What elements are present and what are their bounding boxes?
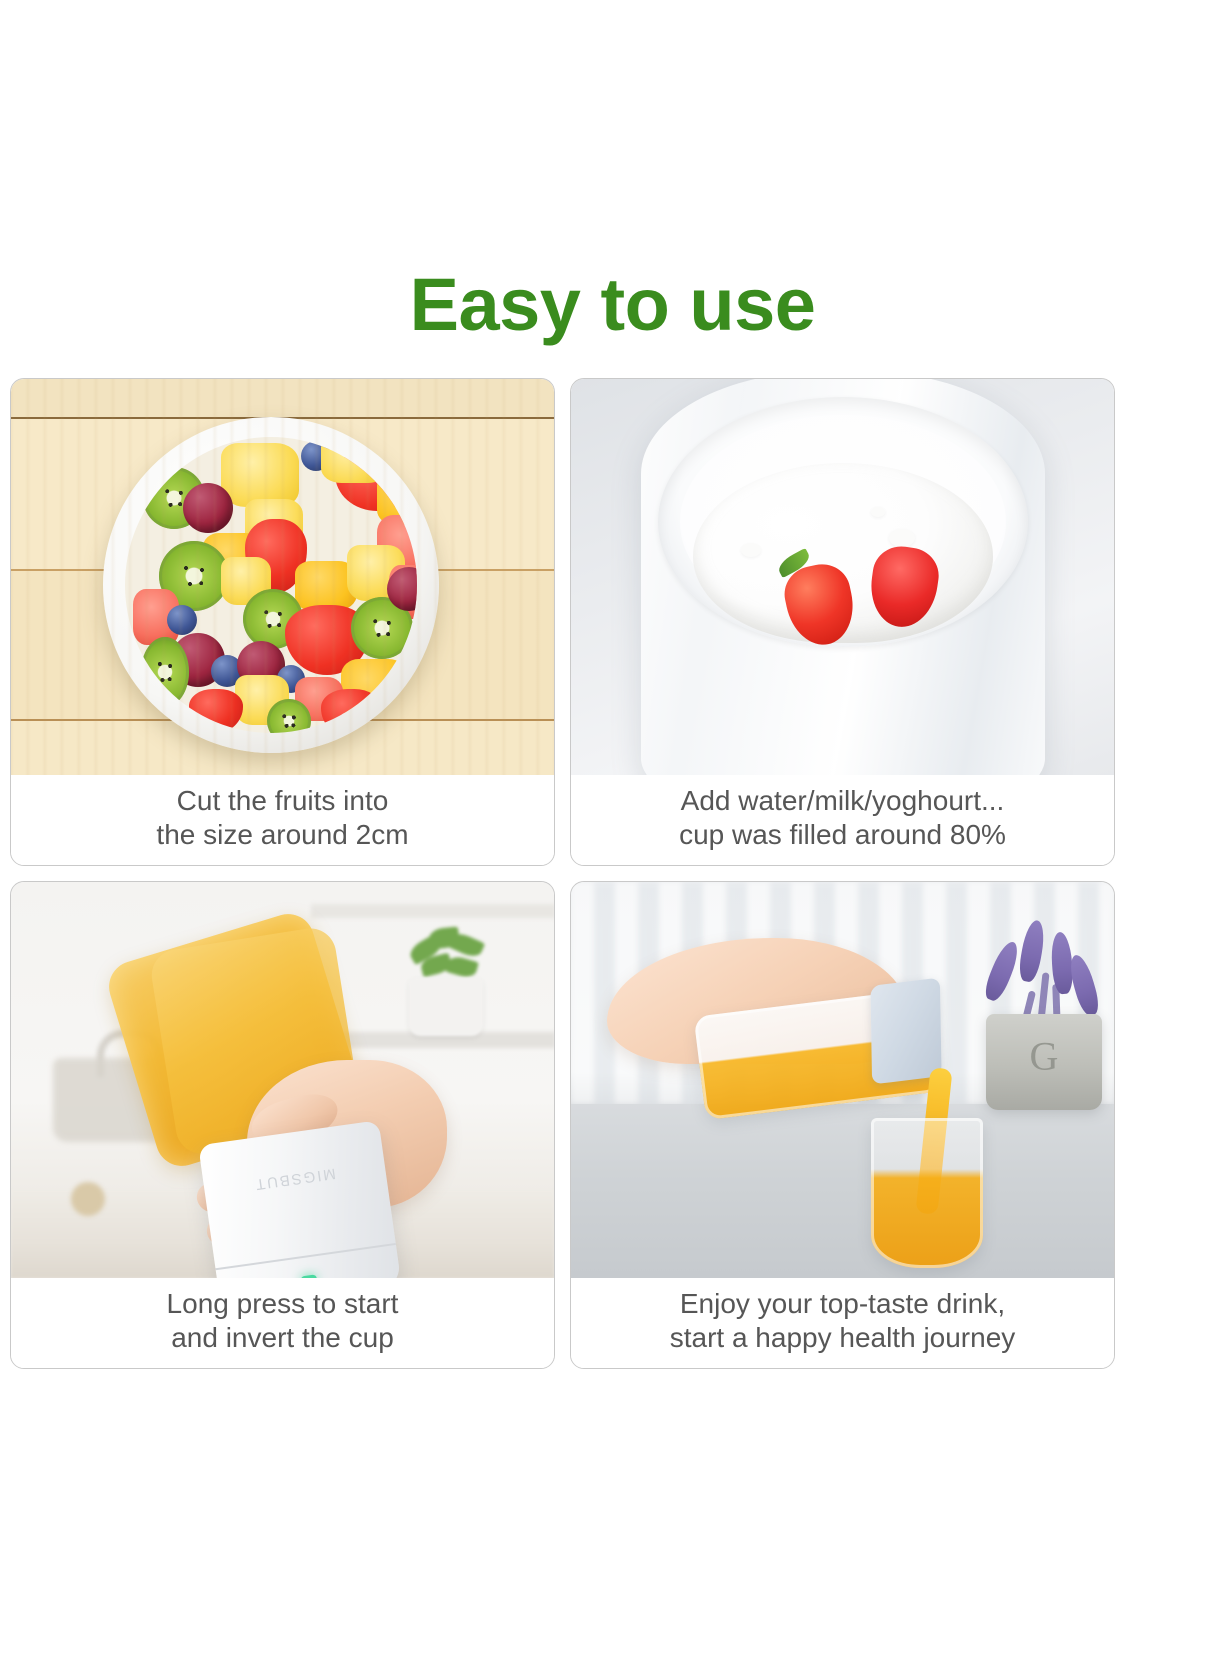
- wooden-ball: [71, 1182, 105, 1216]
- step-card-4: G Enjoy your top-taste drink, start a ha…: [570, 881, 1115, 1369]
- step-1-caption: Cut the fruits into the size around 2cm: [11, 775, 554, 865]
- lavender-plant: G: [934, 896, 1106, 1106]
- step-4-caption: Enjoy your top-taste drink, start a happ…: [571, 1278, 1114, 1368]
- page-title-wrapper: Easy to use: [0, 268, 1225, 342]
- blender-seam: [215, 1243, 396, 1270]
- step-4-caption-line-1: Enjoy your top-taste drink,: [680, 1287, 1005, 1321]
- fruit-bowl-icon: [103, 417, 439, 753]
- page-title: Easy to use: [410, 268, 816, 342]
- lavender-pot: G: [986, 1014, 1102, 1110]
- table-surface: [571, 1104, 1114, 1278]
- potted-plant-leaves: [399, 926, 495, 986]
- step-2-caption-line-1: Add water/milk/yoghourt...: [681, 784, 1005, 818]
- step-2-photo: [571, 379, 1114, 775]
- pot-letter: G: [1030, 1033, 1059, 1080]
- kitchen-shelf-top: [311, 904, 554, 918]
- portable-blender-base: MIGSBUT: [198, 1120, 402, 1278]
- plant-pot: [409, 978, 483, 1036]
- drinking-glass: [871, 1118, 983, 1268]
- cup-lid-spout: [870, 977, 941, 1084]
- step-3-photo: MIGSBUT: [11, 882, 554, 1278]
- blender-logo: MIGSBUT: [253, 1165, 337, 1193]
- step-4-caption-line-2: start a happy health journey: [670, 1321, 1016, 1355]
- step-1-caption-line-1: Cut the fruits into: [177, 784, 389, 818]
- step-3-caption-line-2: and invert the cup: [171, 1321, 394, 1355]
- step-4-photo: G: [571, 882, 1114, 1278]
- power-led-indicator: [300, 1274, 317, 1278]
- steps-grid: Cut the fruits into the size around 2cm …: [10, 378, 1115, 1369]
- step-1-caption-line-2: the size around 2cm: [156, 818, 408, 852]
- step-card-1: Cut the fruits into the size around 2cm: [10, 378, 555, 866]
- step-1-photo: [11, 379, 554, 775]
- step-3-caption-line-1: Long press to start: [167, 1287, 399, 1321]
- step-card-2: Add water/milk/yoghourt... cup was fille…: [570, 378, 1115, 866]
- product-infographic-page: Easy to use: [0, 0, 1225, 1670]
- step-card-3: MIGSBUT Long press to start and invert t…: [10, 881, 555, 1369]
- step-2-caption-line-2: cup was filled around 80%: [679, 818, 1006, 852]
- step-2-caption: Add water/milk/yoghourt... cup was fille…: [571, 775, 1114, 865]
- step-3-caption: Long press to start and invert the cup: [11, 1278, 554, 1368]
